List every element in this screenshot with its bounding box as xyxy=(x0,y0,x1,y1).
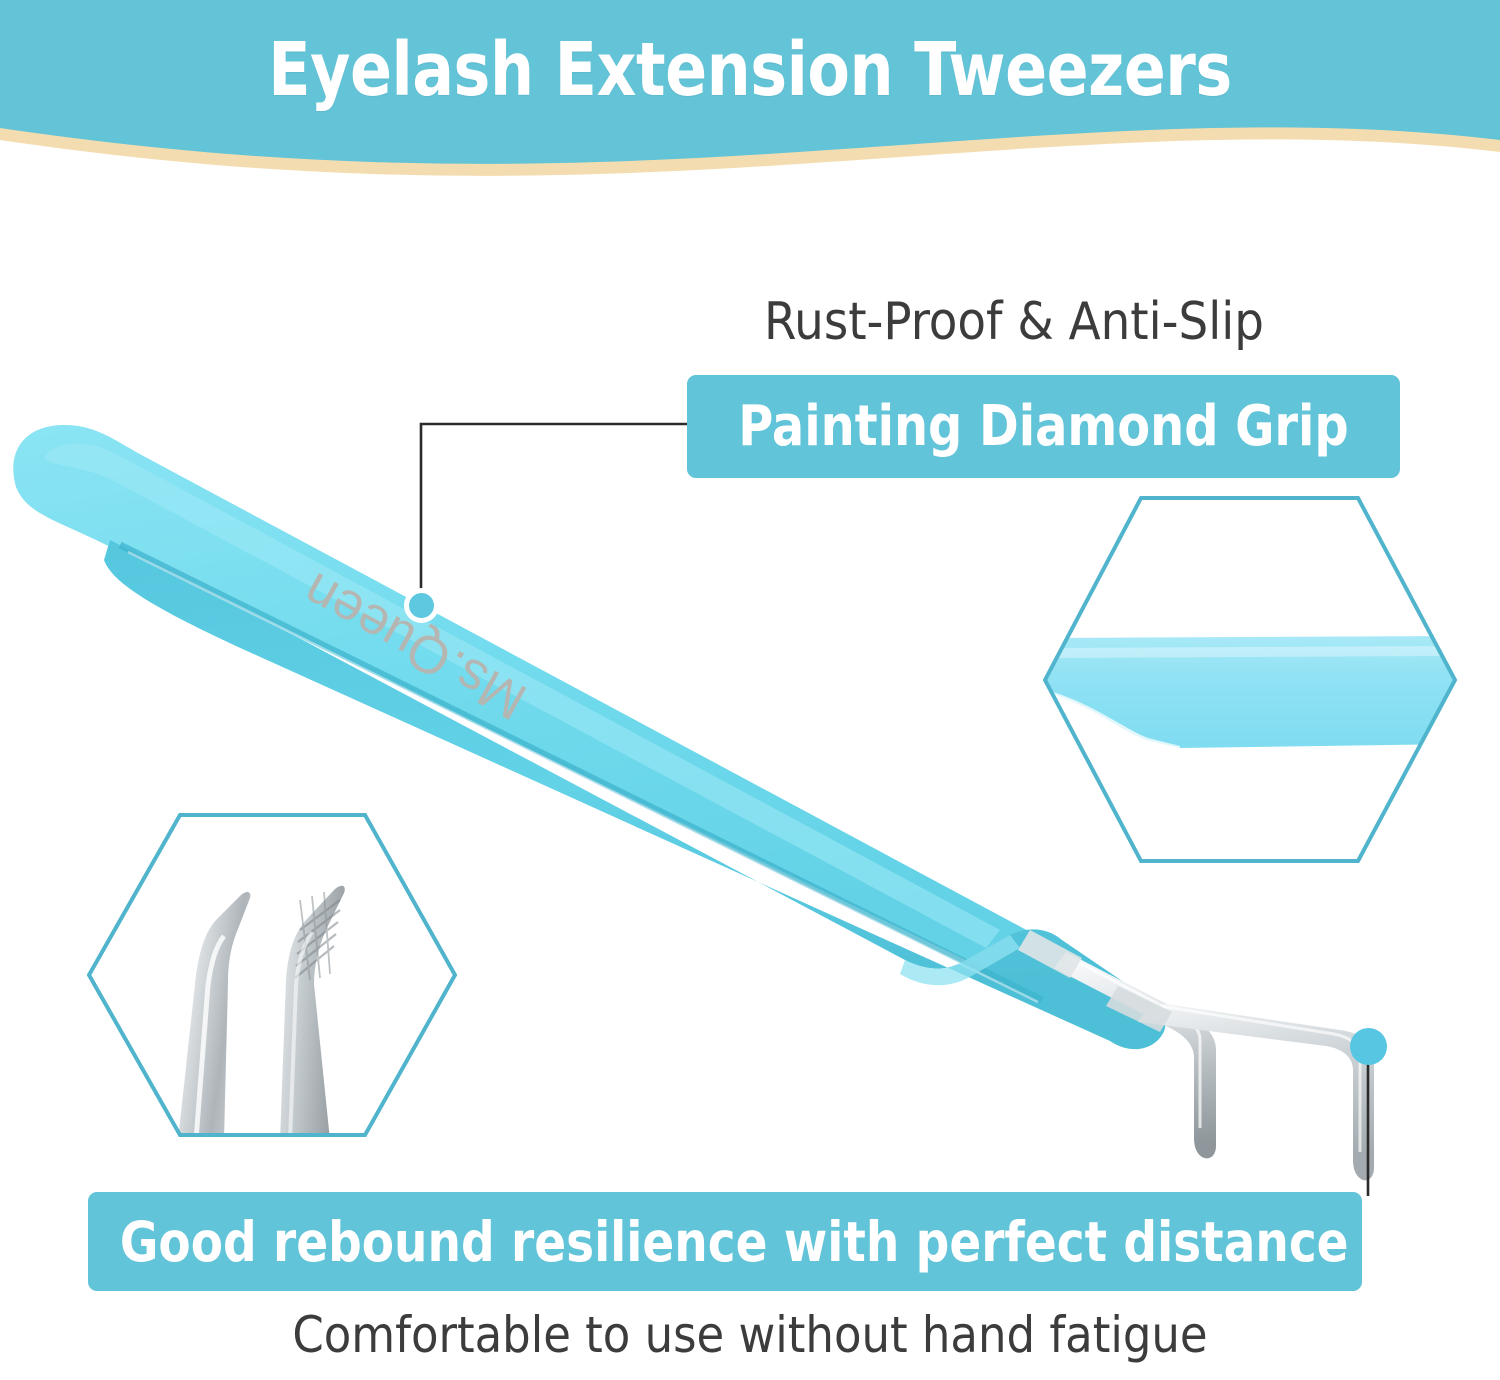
callout-rust-proof-label: Rust-Proof & Anti-Slip xyxy=(764,292,1264,352)
grip-closeup-hexagon xyxy=(1040,498,1460,863)
callout-diamond-grip-label: Painting Diamond Grip xyxy=(705,395,1382,459)
grip-band-gloss xyxy=(1048,646,1455,658)
infographic-canvas: Eyelash Extension Tweezers xyxy=(0,0,1500,1380)
tweezer-product-illustration: Ms.Queen xyxy=(0,0,1500,1380)
callout-rebound-label: Good rebound resilience with perfect dis… xyxy=(120,1211,1330,1273)
callout-diamond-grip-banner: Painting Diamond Grip xyxy=(687,375,1400,478)
leader-dot-icon-tip xyxy=(1350,1028,1387,1065)
leader-dot-icon-grip xyxy=(404,588,439,623)
callout-comfort-label: Comfortable to use without hand fatigue xyxy=(0,1306,1500,1364)
tip-closeup-hexagon xyxy=(89,815,459,1140)
callout-rebound-banner: Good rebound resilience with perfect dis… xyxy=(88,1192,1362,1291)
